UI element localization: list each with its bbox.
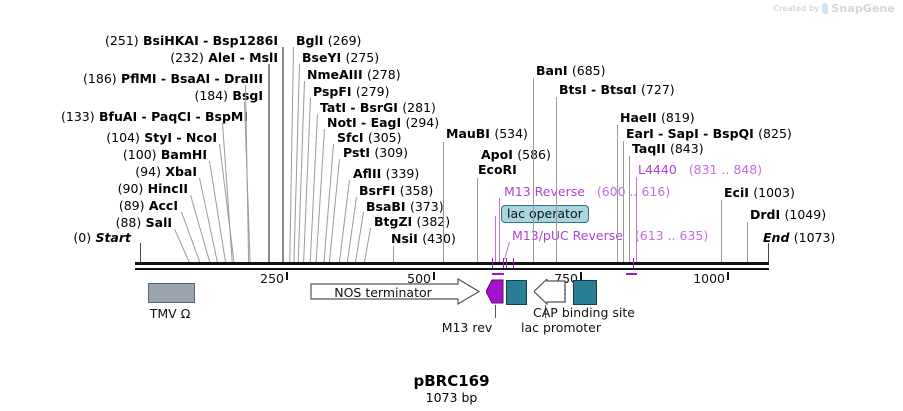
leader-line-m13-reverse [499, 198, 500, 265]
enzyme-label-haeii[interactable]: HaeII (819) [620, 111, 695, 124]
enzyme-label-taqii[interactable]: TaqII (843) [632, 142, 704, 155]
enzyme-names: AleI - MslI [208, 50, 278, 65]
enzyme-label-bsgi[interactable]: (184) BsgI [194, 89, 263, 102]
feature-stem-m13-rev [495, 305, 496, 318]
enzyme-label-ecori[interactable]: EcoRI [478, 163, 517, 176]
enzyme-label-drdi[interactable]: DrdI (1049) [750, 208, 826, 221]
enzyme-position: (586) [517, 147, 551, 162]
leader-line-haeii [617, 125, 618, 265]
enzyme-position: (281) [402, 100, 436, 115]
enzyme-names: AccI [149, 198, 178, 213]
leader-line-hincii [190, 195, 210, 263]
enzyme-position: (88) [116, 215, 142, 230]
snapgene-logo-icon [822, 3, 828, 14]
enzyme-label-bgli[interactable]: BglI (269) [296, 34, 361, 47]
enzyme-position: (685) [572, 63, 606, 78]
enzyme-position: (278) [367, 67, 401, 82]
enzyme-label-pspfi[interactable]: PspFI (279) [313, 85, 390, 98]
highlight-chip-lac-operator[interactable]: lac operator [501, 205, 589, 223]
enzyme-label-bamhi[interactable]: (100) BamHI [123, 148, 207, 161]
enzyme-names: HaeII [620, 110, 657, 125]
feature-arrow-m13-rev[interactable] [486, 279, 504, 305]
primer-bracket-l4440 [633, 258, 634, 268]
enzyme-position: (1003) [753, 185, 795, 200]
plasmid-backbone-upper [135, 262, 769, 265]
plasmid-backbone-lower [135, 268, 769, 270]
leader-line-taqii [629, 156, 630, 265]
enzyme-label-eari[interactable]: EarI - SapI - BspQI (825) [626, 127, 792, 140]
feature-label-lac-promoter: lac promoter [521, 320, 601, 335]
leader-line-ecori [477, 178, 478, 265]
leader-line-bfuai [222, 123, 233, 265]
leader-line-noti [315, 129, 325, 265]
leader-line-btsi [556, 97, 557, 265]
enzyme-label-ecii[interactable]: EciI (1003) [724, 186, 795, 199]
feature-box-lac-operator[interactable] [506, 280, 527, 305]
leader-line-m13-puc-reverse [504, 242, 510, 260]
leader-line-sfci [323, 144, 334, 265]
ruler-tick-1000 [727, 272, 729, 280]
enzyme-names: BfuAI - PaqCI - BspMI [99, 109, 248, 124]
enzyme-label-maubi[interactable]: MauBI (534) [446, 127, 528, 140]
enzyme-position: (104) [106, 130, 140, 145]
enzyme-position: (251) [105, 33, 139, 48]
enzyme-position: (269) [328, 33, 362, 48]
plasmid-length: 1073 bp [0, 390, 903, 405]
watermark-brand: SnapGene [831, 2, 895, 15]
enzyme-names: TatI - BsrGI [320, 100, 398, 115]
leader-line-bsabi [355, 212, 364, 265]
enzyme-label-styi[interactable]: (104) StyI - NcoI [106, 131, 217, 144]
enzyme-names: EciI [724, 185, 749, 200]
enzyme-names: BamHI [161, 147, 207, 162]
enzyme-names: BanI [536, 63, 568, 78]
enzyme-label-bsrfi[interactable]: BsrFI (358) [359, 184, 433, 197]
primer-range: (600 .. 616) [597, 184, 670, 199]
feature-label-nos-terminator: NOS terminator [334, 285, 432, 300]
enzyme-label-apoi[interactable]: ApoI (586) [481, 148, 551, 161]
ruler-label-250: 250 [260, 271, 284, 286]
enzyme-names: PspFI [313, 84, 352, 99]
enzyme-names: NmeAIII [307, 67, 363, 82]
plasmid-title: pBRC169 [0, 372, 903, 390]
feature-arrow-lac-promoter[interactable] [534, 279, 566, 305]
enzyme-names: DrdI [750, 207, 780, 222]
enzyme-position: (1049) [785, 207, 827, 222]
start-position: (0) [73, 230, 91, 245]
enzyme-label-bseyi[interactable]: BseYI (275) [302, 51, 379, 64]
primer-name: M13/pUC Reverse [512, 228, 623, 243]
enzyme-position: (94) [135, 164, 161, 179]
primer-label-l4440[interactable]: L4440 (831 .. 848) [638, 163, 762, 176]
enzyme-names: EarI - SapI - BspQI [626, 126, 754, 141]
leader-line-ecii [721, 200, 722, 265]
start-name: Start [95, 230, 131, 245]
enzyme-position: (275) [346, 50, 380, 65]
enzyme-label-pflmi[interactable]: (186) PflMI - BsaAI - DraIII [83, 72, 263, 85]
enzyme-position: (430) [422, 231, 456, 246]
enzyme-position: (294) [406, 115, 440, 130]
leader-line-eari [623, 141, 624, 265]
primer-name: L4440 [638, 162, 677, 177]
enzyme-label-xbai[interactable]: (94) XbaI [135, 165, 197, 178]
enzyme-position: (309) [374, 145, 408, 160]
enzyme-names: HincII [148, 181, 188, 196]
feature-box-cap-binding-site[interactable] [573, 280, 597, 305]
enzyme-names: MauBI [446, 126, 490, 141]
enzyme-names: NotI - EagI [327, 115, 401, 130]
enzyme-label-btgzi[interactable]: BtgZI (382) [374, 215, 450, 228]
feature-label-m13-rev: M13 rev [442, 320, 493, 335]
enzyme-names: BtgZI [374, 214, 412, 229]
enzyme-label-nmeaiii[interactable]: NmeAIII (278) [307, 68, 401, 81]
ruler-tick-750 [580, 272, 582, 280]
primer-range: (831 .. 848) [689, 162, 762, 177]
enzyme-position: (843) [670, 141, 704, 156]
enzyme-label-noti[interactable]: NotI - EagI (294) [327, 116, 439, 129]
enzyme-position: (100) [123, 147, 157, 162]
enzyme-names: EcoRI [478, 162, 517, 177]
leader-line-drdi [747, 222, 748, 265]
enzyme-label-bsihkai[interactable]: (251) BsiHKAI - Bsp1286I [105, 34, 278, 47]
end-name: End [763, 230, 789, 245]
enzyme-position: (373) [410, 199, 444, 214]
primer-range: (613 .. 635) [635, 228, 708, 243]
leader-line-bsihkai [282, 47, 284, 265]
leader-line-l4440 [636, 177, 637, 265]
enzyme-label-bani[interactable]: BanI (685) [536, 64, 606, 77]
enzyme-names: NsiI [391, 231, 418, 246]
snapgene-watermark: Created by SnapGene [773, 2, 895, 15]
enzyme-label-aflii[interactable]: AflII (339) [353, 167, 419, 180]
leader-line-maubi [443, 142, 444, 265]
enzyme-label-sali[interactable]: (88) SalI [116, 216, 172, 229]
enzyme-position: (279) [356, 84, 390, 99]
enzyme-names: PstI [343, 145, 370, 160]
enzyme-position: (727) [641, 82, 675, 97]
enzyme-names: PflMI - BsaAI - DraIII [121, 71, 263, 86]
enzyme-names: AflII [353, 166, 381, 181]
primer-name: M13 Reverse [504, 184, 585, 199]
leader-line-bgli [289, 47, 294, 265]
leader-line-alei [268, 64, 270, 265]
plasmid-map-canvas: Created by SnapGene (251) BsiHKAI - Bsp1… [0, 0, 903, 411]
enzyme-label-tati[interactable]: TatI - BsrGI (281) [320, 101, 436, 114]
enzyme-label-hincii[interactable]: (90) HincII [118, 182, 188, 195]
leader-line-sali [174, 229, 190, 262]
enzyme-names: BtsI - BtsαI [559, 82, 637, 97]
enzyme-names: BsiHKAI - Bsp1286I [143, 33, 278, 48]
ruler-label-1000: 1000 [693, 271, 725, 286]
enzyme-names: XbaI [165, 164, 197, 179]
start-marker-label[interactable]: (0) Start [73, 231, 131, 244]
enzyme-names: BseYI [302, 50, 341, 65]
primer-bracket-m13puc-left [506, 258, 507, 268]
feature-label-cap-binding-site: CAP binding site [533, 305, 635, 320]
enzyme-label-bsabi[interactable]: BsaBI (373) [366, 200, 444, 213]
primer-bracket-m13rev-right [503, 258, 504, 268]
enzyme-names: ApoI [481, 147, 513, 162]
enzyme-position: (339) [386, 166, 420, 181]
leader-line-btgzi [364, 228, 371, 265]
enzyme-names: BsaBI [366, 199, 406, 214]
enzyme-position: (133) [61, 109, 95, 124]
enzyme-names: BsgI [232, 88, 263, 103]
enzyme-position: (89) [119, 198, 145, 213]
enzyme-position: (232) [170, 50, 204, 65]
feature-label-tmv-omega: TMV Ω [150, 306, 191, 321]
enzyme-label-bfuai[interactable]: (133) BfuAI - PaqCI - BspMI [61, 110, 248, 123]
primer-bracket-m13rev-left [492, 258, 493, 268]
primer-range-bar-l4440 [626, 273, 637, 275]
enzyme-names: BglI [296, 33, 323, 48]
enzyme-label-nsii[interactable]: NsiI (430) [391, 232, 456, 245]
enzyme-label-btsi[interactable]: BtsI - BtsαI (727) [559, 83, 675, 96]
enzyme-label-acci[interactable]: (89) AccI [119, 199, 178, 212]
primer-label-m13-puc-reverse[interactable]: M13/pUC Reverse (613 .. 635) [512, 229, 708, 242]
enzyme-label-sfci[interactable]: SfcI (305) [337, 131, 402, 144]
leader-line-bani [533, 78, 534, 265]
enzyme-names: BsrFI [359, 183, 395, 198]
enzyme-names: SfcI [337, 130, 364, 145]
enzyme-names: SalI [146, 215, 172, 230]
primer-label-m13-reverse[interactable]: M13 Reverse (600 .. 616) [504, 185, 670, 198]
enzyme-position: (819) [661, 110, 695, 125]
leader-line-lac-operator [495, 216, 496, 265]
enzyme-label-psti[interactable]: PstI (309) [343, 146, 408, 159]
enzyme-position: (305) [368, 130, 402, 145]
enzyme-position: (534) [494, 126, 528, 141]
end-marker-label[interactable]: End (1073) [763, 231, 835, 244]
enzyme-position: (184) [194, 88, 228, 103]
end-position: (1073) [794, 230, 836, 245]
enzyme-label-alei[interactable]: (232) AleI - MslI [170, 51, 278, 64]
ruler-tick-250 [286, 272, 288, 280]
enzyme-position: (358) [400, 183, 434, 198]
enzyme-position: (382) [417, 214, 451, 229]
enzyme-position: (186) [83, 71, 117, 86]
enzyme-names: StyI - NcoI [144, 130, 217, 145]
enzyme-position: (90) [118, 181, 144, 196]
feature-box-tmv-omega[interactable] [148, 283, 195, 303]
leader-line-xbai [199, 178, 218, 263]
enzyme-position: (825) [758, 126, 792, 141]
primer-range-bar-m13rev [492, 273, 504, 275]
enzyme-names: TaqII [632, 141, 666, 156]
primer-bracket-m13puc-right [513, 258, 514, 268]
watermark-prefix: Created by [773, 4, 819, 13]
